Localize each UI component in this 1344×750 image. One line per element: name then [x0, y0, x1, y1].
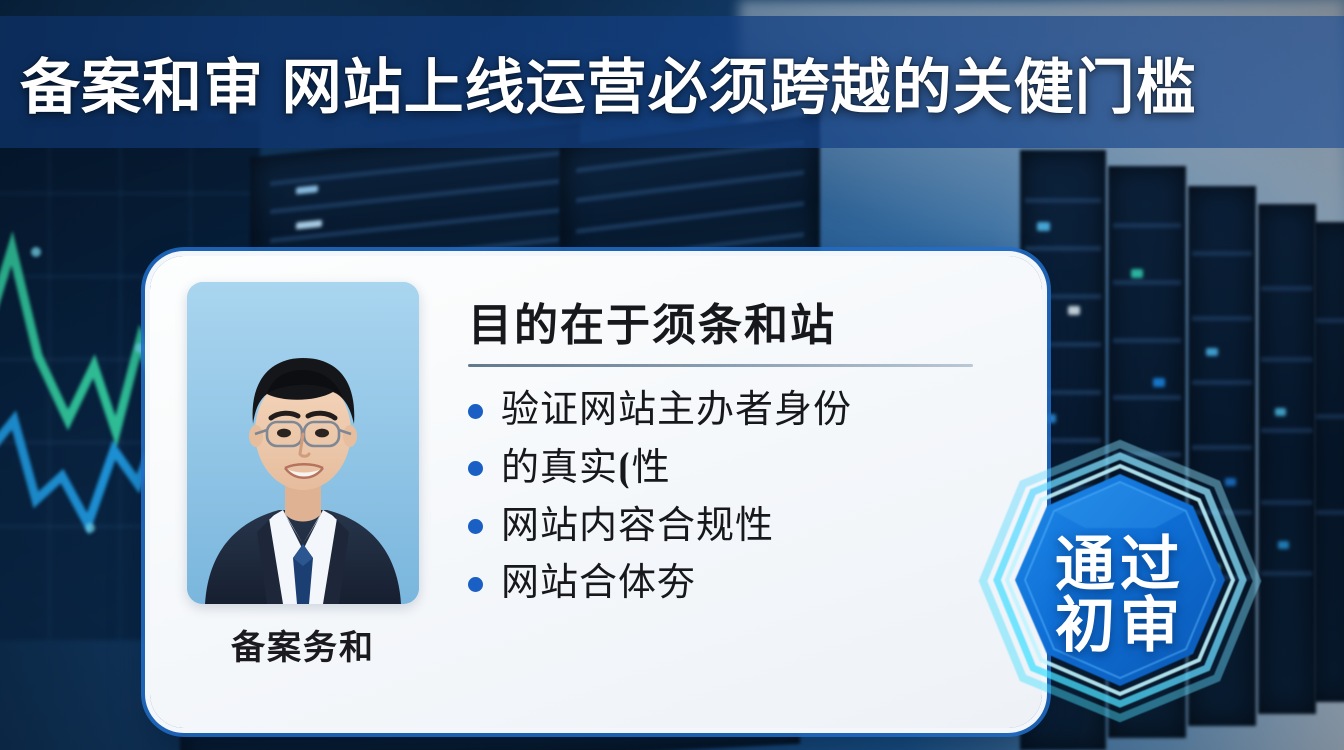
info-card: 备案务和 目的在于须条和站 验证网站主办者身份 的真实⦗性 网站内容合规性	[150, 256, 1042, 728]
portrait-column: 备案务和	[178, 282, 428, 708]
card-heading: 目的在于须条和站	[468, 302, 1012, 350]
list-item: 的真实⦗性	[468, 447, 1012, 491]
bullet-dot-icon	[468, 404, 483, 419]
title-band: 备案和审 网站上线运营必须跨越的关健门槛	[0, 16, 1344, 148]
banner-image: 备案和审 网站上线运营必须跨越的关健门槛	[0, 0, 1344, 750]
bullet-label: 网站合体夯	[501, 562, 696, 606]
heading-divider	[468, 364, 973, 367]
bullet-label: 验证网站主办者身份	[501, 389, 852, 433]
bullet-label: 的真实⦗性	[501, 447, 671, 491]
bullet-dot-icon	[468, 461, 483, 476]
portrait-photo	[187, 282, 419, 604]
list-item: 网站内容合规性	[468, 505, 1012, 549]
bullet-dot-icon	[468, 577, 483, 592]
bullet-list: 验证网站主办者身份 的真实⦗性 网站内容合规性 网站合体夯	[468, 389, 1012, 606]
list-item: 网站合体夯	[468, 562, 1012, 606]
badge-octagon-icon	[955, 438, 1285, 750]
list-item: 验证网站主办者身份	[468, 389, 1012, 433]
page-title: 备案和审 网站上线运营必须跨越的关健门槛	[0, 39, 1197, 126]
bullet-label: 网站内容合规性	[501, 505, 774, 549]
bullet-dot-icon	[468, 519, 483, 534]
portrait-caption: 备案务和	[231, 620, 375, 669]
approval-badge: 通过 初审	[955, 438, 1285, 750]
card-text-column: 目的在于须条和站 验证网站主办者身份 的真实⦗性 网站内容合规性 网站合体夯	[428, 282, 1012, 708]
portrait-illustration	[187, 282, 419, 604]
